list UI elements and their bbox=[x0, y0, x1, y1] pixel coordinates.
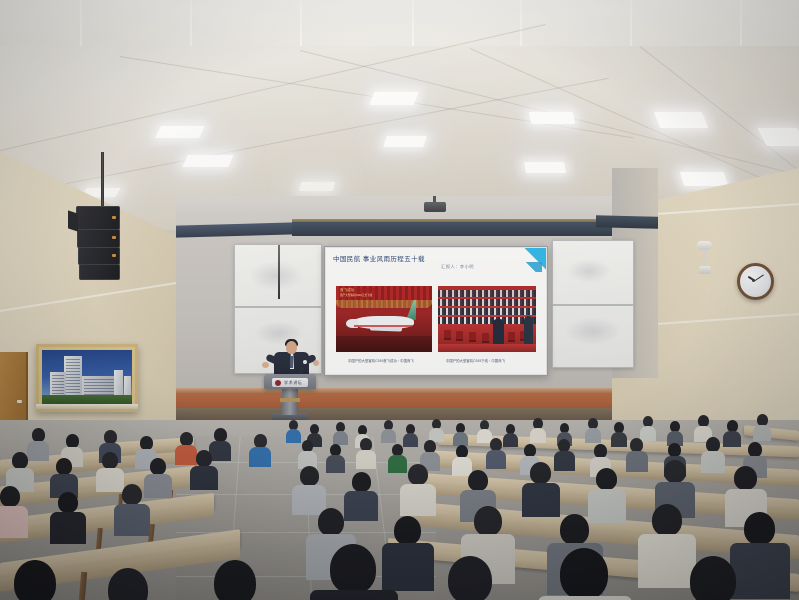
door-handle[interactable] bbox=[17, 400, 22, 403]
presenter-tie bbox=[290, 356, 293, 368]
presenter-hand-left bbox=[262, 362, 269, 368]
clock-center bbox=[752, 279, 755, 282]
security-camera-lower bbox=[699, 266, 711, 274]
ceiling-light bbox=[155, 126, 205, 138]
ceiling-projector bbox=[424, 202, 446, 212]
ceiling-light bbox=[529, 112, 576, 124]
ceiling-seam bbox=[80, 0, 82, 46]
slide-accent-ribbon-2 bbox=[516, 262, 542, 272]
speaker-side-fill bbox=[68, 210, 78, 231]
ceiling-light bbox=[680, 172, 729, 186]
presenter-badge bbox=[303, 360, 307, 364]
slide-banner-subtext: 国产大型客机C919正式下线 bbox=[340, 293, 372, 297]
wall-clock bbox=[737, 263, 774, 300]
ceiling-seam bbox=[412, 0, 414, 46]
ceiling-seam bbox=[190, 0, 192, 46]
ceiling-seam bbox=[630, 0, 632, 46]
ceiling-seam bbox=[300, 0, 302, 46]
slide-title: 中国民航 事业风雨历程五十载 bbox=[333, 253, 425, 263]
whiteboard-right bbox=[552, 240, 634, 368]
ceiling-light bbox=[654, 112, 708, 128]
ceiling-upper-band bbox=[0, 0, 799, 46]
lecture-hall-photo: 中国民航 事业风雨历程五十载 汇报人：李小明 首飞成功 国产大型客机C919正式… bbox=[0, 0, 799, 600]
presenter-hand-right bbox=[313, 360, 319, 366]
presentation-slide: 中国民航 事业风雨历程五十载 汇报人：李小明 首飞成功 国产大型客机C919正式… bbox=[326, 248, 546, 374]
ceiling-light bbox=[383, 136, 427, 147]
slide-caption-left: 中国产的大型客机C919首飞成功・中国商飞 bbox=[348, 358, 414, 363]
ceiling-light bbox=[370, 92, 419, 105]
whiteboard-pointer bbox=[278, 245, 280, 299]
line-array-loudspeaker bbox=[76, 206, 120, 230]
slide-subtitle: 汇报人：李小明 bbox=[441, 264, 474, 270]
valance-center bbox=[292, 222, 612, 236]
projection-screen: 中国民航 事业风雨历程五十载 汇报人：李小明 首飞成功 国产大型客机C919正式… bbox=[324, 246, 548, 376]
ceiling-seam bbox=[520, 0, 522, 46]
slide-image-aircraft: 首飞成功 国产大型客机C919正式下线 bbox=[336, 286, 432, 352]
stage-edge bbox=[176, 388, 612, 393]
clock-minute-hand bbox=[754, 274, 764, 281]
security-camera bbox=[697, 241, 712, 250]
podium-name-plate: 学术讲坛 bbox=[284, 380, 302, 386]
ceiling-light bbox=[182, 155, 233, 167]
line-array-loudspeaker bbox=[78, 247, 120, 265]
line-array-loudspeaker bbox=[79, 264, 120, 280]
ceiling-seam bbox=[740, 0, 742, 46]
speaker-pole bbox=[101, 152, 104, 214]
picture-ledge bbox=[36, 404, 138, 409]
line-array-loudspeaker bbox=[77, 229, 120, 248]
ceiling-light bbox=[299, 182, 335, 191]
ceiling-light bbox=[524, 162, 566, 173]
school-crest-icon bbox=[275, 380, 281, 386]
presenter-head bbox=[286, 341, 297, 354]
podium-band bbox=[280, 398, 300, 402]
campus-building-photo bbox=[36, 344, 138, 412]
valance-right bbox=[596, 215, 658, 229]
slide-caption-right: 中国产的大型客机C919下线・中国商飞 bbox=[446, 358, 505, 363]
podium-column bbox=[282, 389, 298, 415]
slide-image-assembly bbox=[438, 286, 536, 352]
